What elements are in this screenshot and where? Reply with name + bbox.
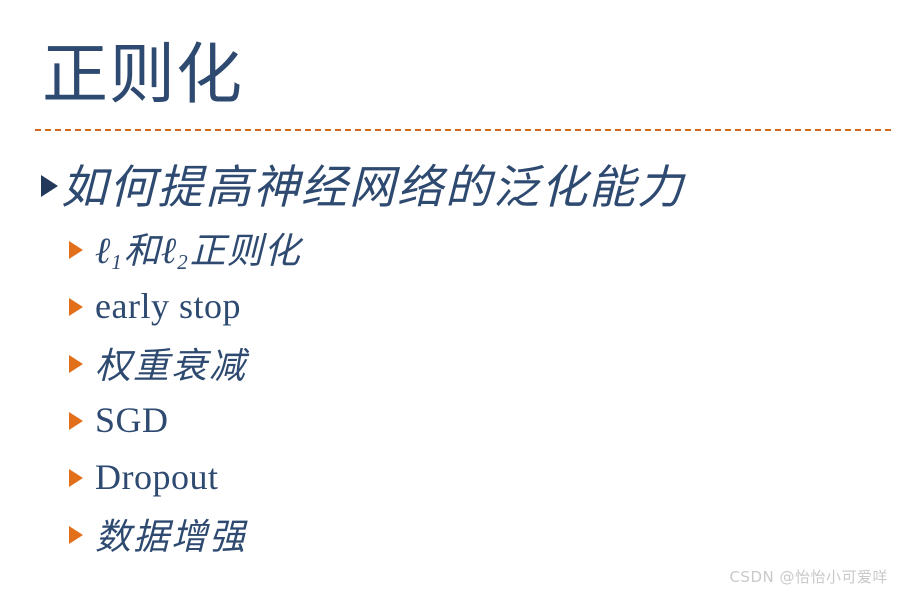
triangle-bullet-icon [69, 355, 83, 373]
list-item-level2-regularization[interactable]: ℓ1和ℓ2正则化 [0, 220, 904, 277]
list-item-label: 如何提高神经网络的泛化能力 [61, 151, 685, 217]
triangle-bullet-icon [69, 412, 83, 430]
triangle-bullet-icon [69, 469, 83, 487]
conjunction-text: 和 [124, 231, 161, 271]
csdn-watermark: CSDN @怡怡小可爱咩 [729, 566, 888, 587]
page-title: 正则化 [42, 40, 243, 109]
list-item-label: 权重衰减 [95, 337, 247, 389]
list-item-label: early stop [95, 285, 241, 327]
ell-symbol-1: ℓ [95, 231, 112, 272]
list-item-level2-dropout[interactable]: Dropout [0, 448, 904, 505]
list-item-level2-weight-decay[interactable]: 权重衰减 [0, 334, 904, 391]
title-divider-dashed-line [35, 129, 891, 131]
list-item-level2-early-stop[interactable]: early stop [0, 277, 904, 334]
ell-symbol-2: ℓ [161, 231, 178, 272]
regularization-text: 正则化 [190, 231, 301, 271]
triangle-bullet-icon [69, 241, 83, 259]
list-item-label: Dropout [95, 456, 219, 498]
list-item-label: ℓ1和ℓ2正则化 [95, 222, 301, 275]
list-item-label: 数据增强 [95, 508, 247, 560]
list-item-level2-data-augmentation[interactable]: 数据增强 [0, 505, 904, 562]
list-item-level1[interactable]: 如何提高神经网络的泛化能力 [0, 148, 904, 220]
triangle-bullet-icon [69, 298, 83, 316]
ell-subscript-2: 2 [177, 250, 189, 274]
bullet-list: 如何提高神经网络的泛化能力 ℓ1和ℓ2正则化 early stop 权重衰减 S… [0, 148, 904, 562]
triangle-bullet-icon [69, 526, 83, 544]
list-item-label: SGD [95, 399, 169, 441]
list-item-level2-sgd[interactable]: SGD [0, 391, 904, 448]
slide-canvas: 正则化 如何提高神经网络的泛化能力 ℓ1和ℓ2正则化 early stop 权重… [0, 0, 904, 595]
ell-subscript-1: 1 [111, 250, 123, 274]
triangle-bullet-icon [41, 175, 58, 197]
